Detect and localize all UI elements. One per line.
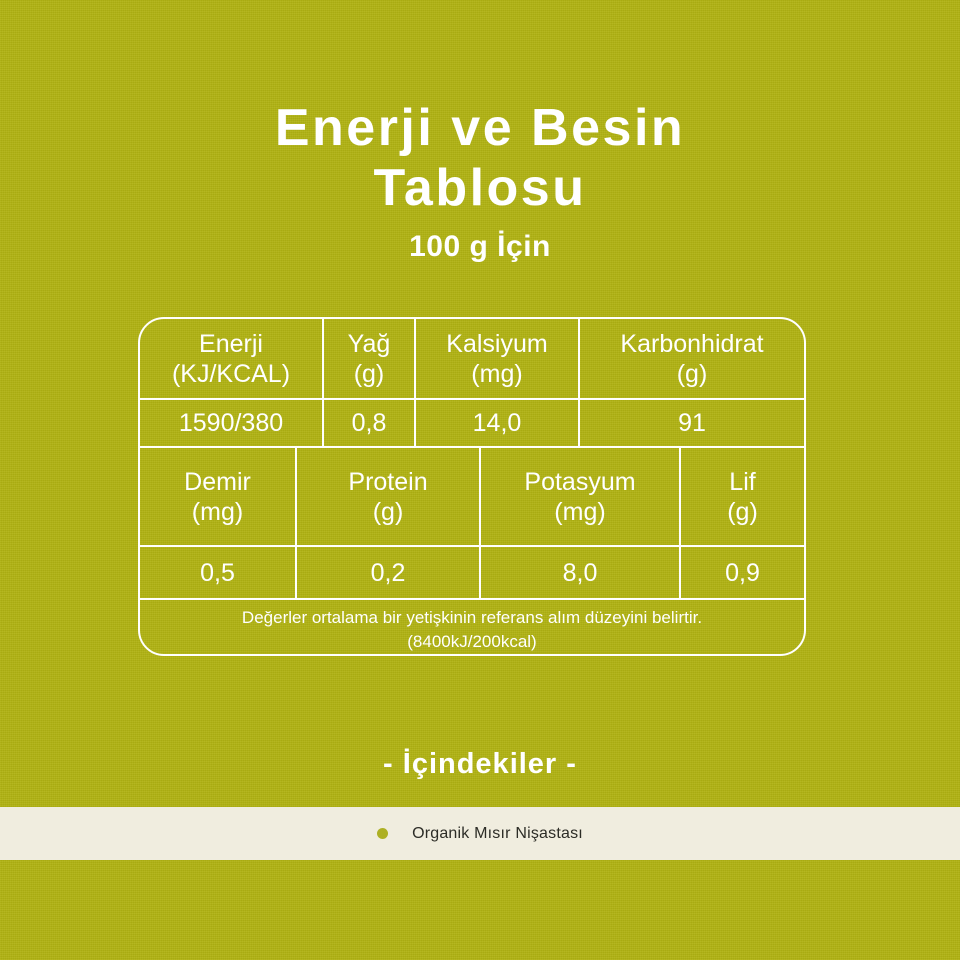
list-item: Organik Mısır Nişastası	[377, 825, 583, 843]
table-footnote-cell: Değerler ortalama bir yetişkinin referan…	[140, 600, 804, 656]
ingredients-heading: - İçindekiler -	[0, 748, 960, 781]
table-value: 91	[678, 409, 706, 437]
table-value: 0,8	[352, 409, 387, 437]
table-header-cell-protein: Protein (g)	[295, 448, 479, 545]
reference-intake-note: Değerler ortalama bir yetişkinin referan…	[242, 606, 702, 654]
table-value-cell-demir: 0,5	[140, 547, 295, 598]
serving-subtitle: 100 g İçin	[0, 230, 960, 264]
ingredients-strip: Organik Mısır Nişastası	[0, 807, 960, 860]
table-footnote-row: Değerler ortalama bir yetişkinin referan…	[140, 600, 804, 656]
table-header-row-2: Demir (mg) Protein (g) Potasyum (mg) Lif…	[140, 448, 804, 545]
table-value-cell-kalsiyum: 14,0	[414, 400, 578, 446]
table-header-cell-lif: Lif (g)	[679, 448, 804, 545]
table-value-cell-enerji: 1590/380	[140, 400, 322, 446]
table-value-row-2: 0,5 0,2 8,0 0,9	[140, 547, 804, 598]
table-value: 0,9	[725, 559, 760, 587]
table-header-label: Enerji (KJ/KCAL)	[172, 329, 290, 389]
table-value: 0,5	[200, 559, 235, 587]
table-header-cell-potasyum: Potasyum (mg)	[479, 448, 679, 545]
table-header-label: Protein (g)	[348, 467, 427, 527]
table-value: 8,0	[563, 559, 598, 587]
table-header-cell-demir: Demir (mg)	[140, 448, 295, 545]
table-value-cell-karbonhidrat: 91	[578, 400, 804, 446]
table-value-cell-potasyum: 8,0	[479, 547, 679, 598]
table-header-cell-enerji: Enerji (KJ/KCAL)	[140, 319, 322, 398]
table-header-label: Demir (mg)	[184, 467, 251, 527]
table-value: 0,2	[371, 559, 406, 587]
table-value: 1590/380	[179, 409, 283, 437]
table-header-label: Karbonhidrat (g)	[620, 329, 763, 389]
table-header-label: Lif (g)	[727, 467, 758, 527]
table-header-label: Potasyum (mg)	[524, 467, 635, 527]
table-header-row-1: Enerji (KJ/KCAL) Yağ (g) Kalsiyum (mg) K…	[140, 319, 804, 398]
table-value-cell-yag: 0,8	[322, 400, 414, 446]
table-value: 14,0	[473, 409, 522, 437]
table-value-cell-protein: 0,2	[295, 547, 479, 598]
table-value-cell-lif: 0,9	[679, 547, 804, 598]
ingredient-name: Organik Mısır Nişastası	[412, 825, 583, 843]
table-header-label: Yağ (g)	[348, 329, 391, 389]
title-block: Enerji ve Besin Tablosu 100 g İçin	[0, 98, 960, 264]
table-header-cell-kalsiyum: Kalsiyum (mg)	[414, 319, 578, 398]
nutrition-table: Enerji (KJ/KCAL) Yağ (g) Kalsiyum (mg) K…	[138, 317, 806, 656]
table-value-row-1: 1590/380 0,8 14,0 91	[140, 400, 804, 446]
table-header-cell-karbonhidrat: Karbonhidrat (g)	[578, 319, 804, 398]
bullet-dot-icon	[377, 828, 388, 839]
table-header-label: Kalsiyum (mg)	[446, 329, 547, 389]
page-title: Enerji ve Besin Tablosu	[0, 98, 960, 218]
table-header-cell-yag: Yağ (g)	[322, 319, 414, 398]
